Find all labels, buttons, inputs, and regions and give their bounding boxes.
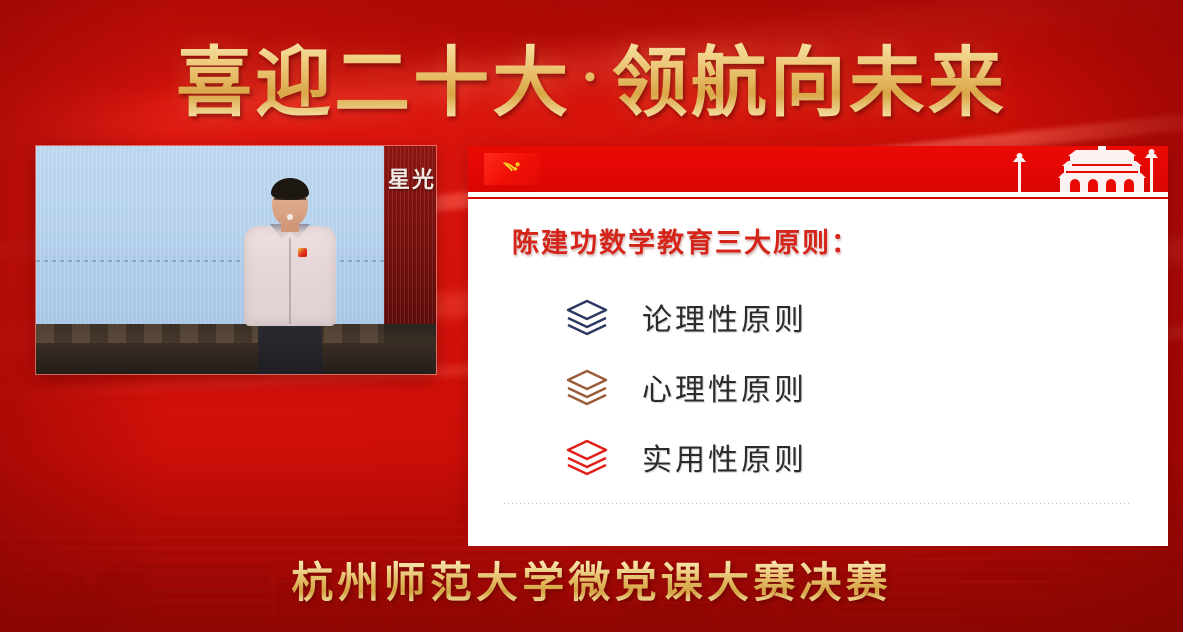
presenter-video-panel[interactable]: 星光 [36, 146, 436, 374]
list-item-label: 论理性原则 [642, 295, 807, 339]
layers-icon [564, 437, 610, 477]
slide-divider [504, 503, 1132, 504]
stage-side-panel-text: 星光 [388, 162, 436, 194]
slide-title: 陈建功数学教育三大原则： [512, 221, 1168, 260]
event-banner-title: 杭州师范大学微党课大赛决赛 [0, 548, 1183, 610]
slide-body: 陈建功数学教育三大原则： 论理性原则 [468, 199, 1168, 546]
list-item[interactable]: 论理性原则 [468, 282, 1168, 352]
list-item[interactable]: 实用性原则 [468, 422, 1168, 492]
headline-right: 领航向未来 [612, 21, 1007, 131]
presentation-screen: 喜迎二十大 · 领航向未来 星光 [0, 0, 1183, 632]
event-headline: 喜迎二十大 · 领航向未来 [0, 20, 1183, 132]
layers-icon [564, 367, 610, 407]
headline-left: 喜迎二十大 [176, 21, 571, 131]
list-item[interactable]: 心理性原则 [468, 352, 1168, 422]
glasses-icon [274, 198, 306, 208]
presentation-slide[interactable]: 陈建功数学教育三大原则： 论理性原则 [468, 146, 1168, 524]
presenter-figure [242, 174, 338, 374]
stage-floor [36, 324, 436, 374]
microphone-icon [287, 214, 293, 220]
presenter-shirt-placket [289, 238, 291, 324]
stage-side-panel: 星光 [384, 146, 436, 324]
list-item-label: 实用性原则 [642, 435, 807, 479]
slide-header-rule [468, 192, 1168, 199]
slide-header [468, 146, 1168, 192]
presenter-trousers [258, 322, 322, 374]
tiananmen-gate-icon [998, 146, 1168, 192]
presenter-hair [271, 178, 309, 200]
party-flag-icon [484, 153, 540, 185]
principles-list: 论理性原则 心理性原则 [468, 282, 1168, 492]
headline-separator: · [571, 47, 611, 106]
list-item-label: 心理性原则 [642, 365, 807, 409]
layers-icon [564, 297, 610, 337]
party-badge-icon [298, 248, 307, 257]
